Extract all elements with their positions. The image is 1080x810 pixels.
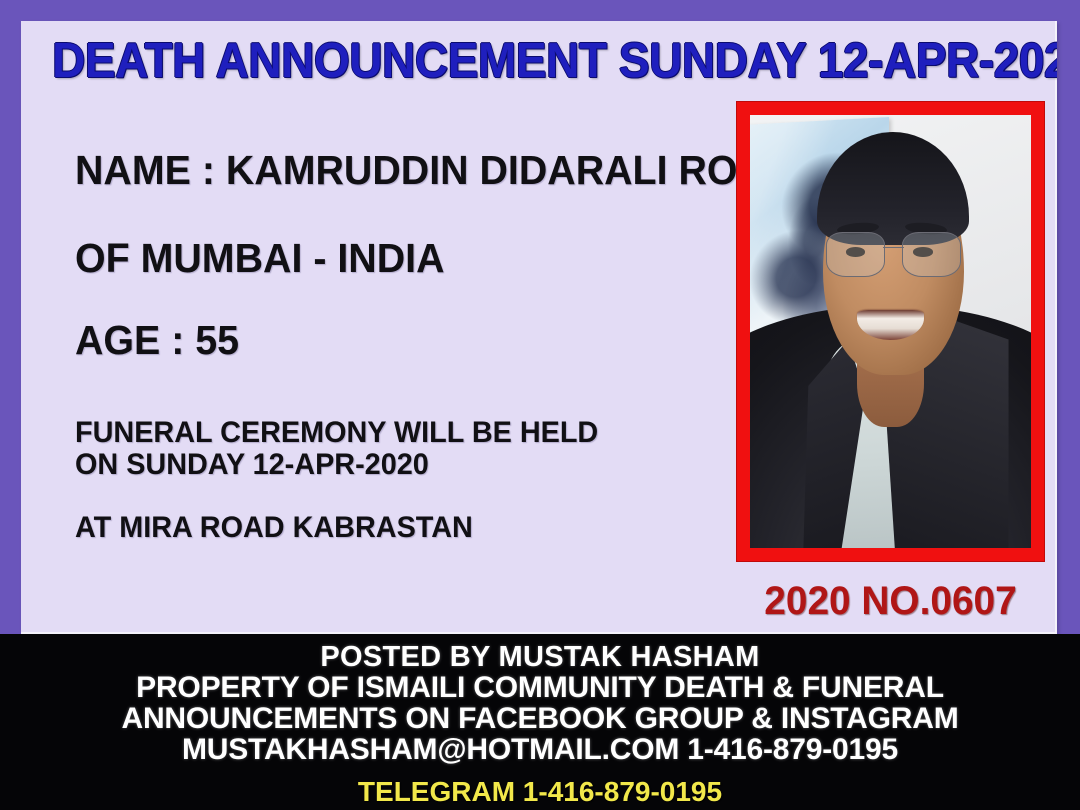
death-announcement-poster: DEATH ANNOUNCEMENT SUNDAY 12-APR-2020 NA… — [0, 0, 1080, 810]
photo-eyeglasses-right-lens — [902, 232, 961, 277]
funeral-notice-line-1: FUNERAL CEREMONY WILL BE HELD — [75, 416, 598, 450]
funeral-notice-line-2: ON SUNDAY 12-APR-2020 — [75, 448, 429, 482]
footer-telegram-line: TELEGRAM 1-416-879-0195 — [0, 776, 1080, 808]
deceased-city-line: OF MUMBAI - INDIA — [75, 235, 445, 282]
deceased-age-line: AGE : 55 — [75, 317, 239, 364]
photo-eyeglasses-bridge — [883, 247, 905, 249]
funeral-location-line: AT MIRA ROAD KABRASTAN — [75, 511, 473, 545]
footer-posted-by: POSTED BY MUSTAK HASHAM — [0, 641, 1080, 674]
announcement-card: DEATH ANNOUNCEMENT SUNDAY 12-APR-2020 NA… — [21, 21, 1057, 634]
reference-number: 2020 NO.0607 — [742, 579, 1040, 624]
photo-eyeglasses-left-lens — [826, 232, 885, 277]
page-title: DEATH ANNOUNCEMENT SUNDAY 12-APR-2020 — [52, 33, 1026, 89]
footer-announcements-line: ANNOUNCEMENTS ON FACEBOOK GROUP & INSTAG… — [0, 702, 1080, 736]
portrait-photo — [750, 115, 1031, 548]
portrait-photo-frame — [737, 102, 1044, 561]
footer-contact-line: MUSTAKHASHAM@HOTMAIL.COM 1-416-879-0195 — [0, 733, 1080, 767]
photo-eyeglasses — [826, 232, 961, 275]
deceased-name-line: NAME : KAMRUDDIN DIDARALI ROY — [75, 147, 764, 194]
footer-property-line: PROPERTY OF ISMAILI COMMUNITY DEATH & FU… — [0, 671, 1080, 705]
